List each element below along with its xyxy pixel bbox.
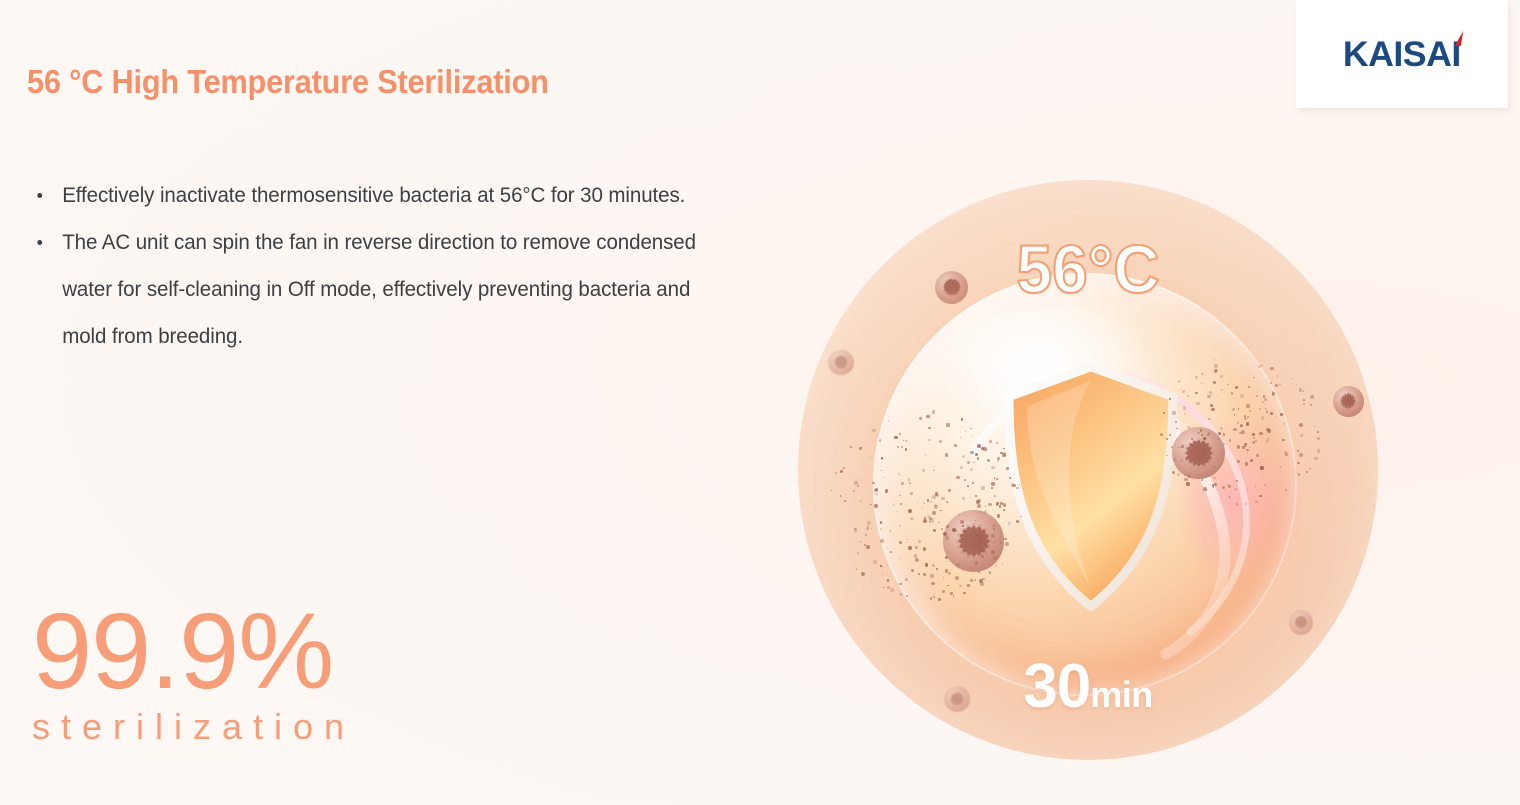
dust-speck	[1227, 384, 1228, 385]
dust-speck	[900, 503, 902, 505]
dust-speck	[929, 518, 933, 522]
dust-speck	[1000, 542, 1001, 543]
dust-speck	[1009, 477, 1011, 479]
dust-speck	[884, 477, 885, 478]
dust-speck	[871, 582, 872, 583]
dust-speck	[1006, 467, 1009, 470]
dust-speck	[915, 440, 916, 441]
dust-speck	[948, 572, 951, 575]
logo-red-accent-icon	[1454, 31, 1463, 46]
dust-speck	[930, 414, 931, 415]
dust-speck	[903, 440, 904, 441]
dust-speck	[975, 495, 978, 498]
dust-speck	[880, 565, 881, 566]
dust-speck	[918, 573, 920, 575]
dust-speck	[882, 573, 884, 575]
dust-speck	[1236, 480, 1238, 482]
dust-speck	[1259, 408, 1261, 410]
dust-speck	[919, 417, 922, 420]
dust-speck	[982, 578, 984, 580]
dust-speck	[881, 457, 883, 459]
dust-speck	[983, 510, 987, 514]
dust-speck	[1317, 437, 1320, 440]
dust-speck	[977, 444, 981, 448]
brand-logo-panel: KAISAI	[1296, 0, 1508, 108]
dust-speck	[985, 506, 986, 507]
dust-speck	[923, 502, 925, 504]
dust-speck	[991, 534, 995, 538]
dust-speck	[1314, 457, 1317, 460]
dust-speck	[1296, 384, 1297, 385]
dust-speck	[1258, 365, 1261, 368]
dust-speck	[1296, 428, 1297, 429]
dust-speck	[1213, 462, 1214, 463]
dust-speck	[1264, 398, 1267, 401]
dust-speck	[872, 482, 874, 484]
dust-speck	[883, 587, 885, 589]
dust-speck	[994, 495, 996, 497]
dust-speck	[888, 420, 889, 421]
dust-speck	[1169, 434, 1171, 436]
dust-speck	[989, 440, 992, 443]
dust-speck	[1181, 445, 1184, 448]
dust-speck	[874, 489, 878, 493]
dust-speck	[1197, 432, 1200, 435]
dust-speck	[953, 595, 954, 596]
dust-speck	[977, 504, 981, 508]
sterilization-illustration: 56°C 30min	[798, 180, 1378, 760]
dust-speck	[899, 525, 901, 527]
dust-speck	[1255, 440, 1257, 442]
dust-speck	[1207, 434, 1209, 436]
dust-cloud-right	[1158, 354, 1320, 505]
dust-speck	[977, 499, 980, 502]
dust-speck	[1270, 382, 1272, 384]
dust-speck	[932, 495, 936, 499]
dust-speck	[946, 423, 949, 426]
dust-speck	[1310, 395, 1313, 398]
dust-speck	[1229, 439, 1232, 442]
dust-speck	[880, 539, 884, 543]
dust-speck	[959, 514, 961, 516]
dust-speck	[1002, 563, 1003, 564]
dust-speck	[932, 564, 935, 567]
dust-speck	[861, 572, 865, 576]
dust-speck	[879, 439, 882, 442]
dust-speck	[1005, 542, 1009, 546]
dust-speck	[893, 504, 894, 505]
dust-speck	[1264, 484, 1266, 486]
dust-speck	[871, 528, 872, 529]
dust-speck	[967, 584, 970, 587]
dust-speck	[856, 568, 857, 569]
dust-speck	[991, 487, 993, 489]
dust-speck	[941, 528, 943, 530]
dust-speck	[1266, 440, 1268, 442]
dust-speck	[899, 433, 901, 435]
dust-speck	[905, 440, 907, 442]
dust-speck	[1270, 367, 1274, 371]
temperature-label: 56°C	[798, 230, 1378, 308]
dust-speck	[1016, 487, 1018, 489]
dust-speck	[1181, 460, 1182, 461]
dust-speck	[1317, 431, 1320, 434]
dust-speck	[1265, 408, 1267, 410]
dust-speck	[934, 505, 938, 509]
dust-speck	[956, 476, 959, 479]
dust-speck	[1203, 437, 1206, 440]
dust-speck	[1187, 426, 1190, 429]
dust-speck	[1250, 459, 1253, 462]
dust-speck	[1008, 524, 1009, 525]
dust-speck	[975, 453, 978, 456]
dust-speck	[1259, 462, 1260, 463]
dust-speck	[992, 524, 996, 528]
duration-unit: min	[1090, 674, 1153, 715]
dust-speck	[1217, 395, 1219, 397]
dust-speck	[1014, 474, 1015, 475]
dust-speck	[1195, 376, 1197, 378]
dust-speck	[946, 501, 948, 503]
dust-speck	[875, 493, 878, 496]
dust-speck	[936, 494, 939, 497]
dust-speck	[923, 547, 926, 550]
dust-speck	[962, 455, 965, 458]
dust-speck	[925, 454, 927, 456]
dust-speck	[993, 528, 995, 530]
dust-speck	[1163, 412, 1165, 414]
dust-speck	[1242, 446, 1245, 449]
dust-speck	[1201, 383, 1202, 384]
dust-speck	[978, 571, 980, 573]
dust-speck	[852, 475, 853, 476]
dust-speck	[1298, 473, 1301, 476]
dust-speck	[1177, 473, 1180, 476]
dust-speck	[940, 510, 941, 511]
dust-speck	[975, 561, 979, 565]
dust-speck	[996, 442, 998, 444]
dust-speck	[942, 590, 945, 593]
dust-speck	[1238, 408, 1240, 410]
dust-speck	[1285, 489, 1287, 491]
dust-speck	[860, 541, 862, 543]
dust-speck	[930, 574, 934, 578]
dust-speck	[948, 489, 951, 492]
dust-speck	[850, 446, 852, 448]
feature-bullet-list: Effectively inactivate thermosensitive b…	[24, 172, 744, 360]
dust-speck	[887, 547, 888, 548]
dust-speck	[1169, 398, 1170, 399]
dust-speck	[1246, 422, 1250, 426]
dust-speck	[1201, 434, 1203, 436]
dust-speck	[1160, 433, 1163, 436]
dust-speck	[955, 576, 959, 580]
dust-speck	[1000, 452, 1003, 455]
dust-speck	[954, 444, 958, 448]
dust-speck	[908, 478, 911, 481]
dust-speck	[994, 477, 996, 479]
dust-speck	[890, 551, 892, 553]
dust-speck	[922, 508, 923, 509]
dust-speck	[960, 466, 963, 469]
dust-speck	[1184, 474, 1186, 476]
dust-speck	[1282, 439, 1284, 441]
dust-speck	[1259, 495, 1262, 498]
dust-speck	[1261, 416, 1265, 420]
dust-speck	[870, 457, 871, 458]
dust-speck	[946, 525, 949, 528]
dust-speck	[1171, 446, 1173, 448]
dust-speck	[1003, 509, 1004, 510]
dust-speck	[899, 541, 902, 544]
dust-speck	[1214, 359, 1215, 360]
dust-speck	[872, 429, 876, 433]
dust-speck	[997, 514, 1000, 517]
dust-speck	[901, 482, 904, 485]
dust-speck	[1314, 426, 1316, 428]
dust-speck	[898, 473, 900, 475]
dust-speck	[909, 482, 911, 484]
dust-speck	[908, 509, 912, 513]
dust-speck	[967, 461, 970, 464]
dust-speck	[1262, 401, 1264, 403]
dust-speck	[1272, 392, 1276, 396]
dust-speck	[977, 457, 980, 460]
dust-speck	[1211, 408, 1215, 412]
dust-speck	[1233, 398, 1234, 399]
page-title: 56 °C High Temperature Sterilization	[27, 63, 549, 101]
dust-speck	[1195, 392, 1198, 395]
dust-speck	[938, 598, 940, 600]
dust-speck	[910, 492, 913, 495]
dust-speck	[1237, 422, 1239, 424]
dust-speck	[1178, 447, 1180, 449]
dust-speck	[1215, 369, 1218, 372]
dust-speck	[1003, 448, 1005, 450]
dust-speck	[980, 582, 984, 586]
dust-speck	[844, 500, 846, 502]
dust-speck	[880, 521, 883, 524]
dust-speck	[1241, 430, 1245, 434]
dust-speck	[1280, 413, 1283, 416]
dust-speck	[885, 489, 889, 493]
dust-speck	[960, 437, 961, 438]
dust-speck	[997, 460, 999, 462]
dust-speck	[970, 451, 973, 454]
dust-speck	[1184, 478, 1187, 481]
dust-speck	[1221, 389, 1223, 391]
dust-speck	[974, 579, 976, 581]
dust-speck	[1002, 454, 1006, 458]
dust-speck	[1247, 416, 1249, 418]
dust-speck	[1183, 406, 1187, 410]
dust-speck	[1213, 477, 1215, 479]
dust-speck	[1236, 503, 1238, 505]
dust-speck	[1237, 460, 1240, 463]
dust-speck	[1244, 418, 1246, 420]
dust-speck	[861, 479, 863, 481]
dust-speck	[1191, 468, 1192, 469]
slide-canvas: KAISAI 56 °C High Temperature Sterilizat…	[0, 0, 1520, 805]
dust-speck	[1247, 452, 1249, 454]
dust-speck	[1173, 458, 1176, 461]
dust-speck	[979, 548, 983, 552]
dust-speck	[1208, 418, 1211, 421]
dust-speck	[1218, 432, 1221, 435]
dust-speck	[923, 573, 926, 576]
dust-speck	[1246, 404, 1249, 407]
dust-speck	[908, 546, 912, 550]
dust-speck	[1180, 388, 1181, 389]
dust-speck	[1270, 412, 1273, 415]
dust-speck	[981, 486, 985, 490]
dust-speck	[995, 483, 996, 484]
dust-speck	[933, 470, 934, 471]
dust-speck	[867, 521, 871, 525]
dust-speck	[1237, 445, 1240, 448]
dust-speck	[1166, 455, 1168, 457]
dust-speck	[866, 527, 869, 530]
dust-speck	[928, 439, 930, 441]
dust-speck	[865, 534, 867, 536]
dust-speck	[972, 435, 973, 436]
dust-speck	[960, 520, 964, 524]
dust-speck	[1004, 538, 1007, 541]
dust-speck	[941, 497, 944, 500]
dust-speck	[1214, 483, 1217, 486]
dust-speck	[1178, 381, 1179, 382]
dust-speck	[1209, 430, 1210, 431]
dust-speck	[887, 579, 889, 581]
dust-speck	[964, 528, 968, 532]
dust-speck	[956, 563, 960, 567]
dust-speck	[1019, 484, 1020, 485]
dust-speck	[1201, 479, 1202, 480]
dust-speck	[1275, 416, 1276, 417]
dust-speck	[1299, 453, 1303, 457]
dust-speck	[918, 540, 921, 543]
dust-speck	[922, 469, 924, 471]
dust-speck	[905, 448, 907, 450]
dust-speck	[910, 517, 914, 521]
dust-speck	[991, 550, 995, 554]
dust-speck	[965, 431, 966, 432]
dust-speck	[996, 478, 998, 480]
dust-speck	[961, 418, 963, 420]
dust-speck	[932, 410, 936, 414]
dust-speck	[906, 595, 908, 597]
dust-speck	[1299, 423, 1303, 427]
dust-speck	[1232, 408, 1235, 411]
dust-speck	[967, 485, 969, 487]
dust-speck	[1222, 486, 1225, 489]
kaisai-logo: KAISAI	[1344, 37, 1460, 72]
dust-speck	[999, 505, 1001, 507]
dust-speck	[831, 490, 832, 491]
dust-speck	[874, 504, 878, 508]
dust-speck	[1171, 468, 1172, 469]
dust-speck	[1233, 428, 1237, 432]
dust-speck	[1277, 375, 1279, 377]
dust-speck	[1213, 381, 1216, 384]
dust-speck	[917, 503, 919, 505]
duration-value: 30	[1023, 652, 1090, 721]
dust-speck	[962, 497, 966, 501]
duration-label: 30min	[798, 651, 1378, 722]
dust-speck	[1214, 466, 1217, 469]
dust-speck	[1182, 390, 1185, 393]
dust-speck	[943, 577, 944, 578]
sterilization-stat: 99.9% sterilization	[32, 600, 355, 746]
dust-speck	[987, 459, 990, 462]
dust-speck	[857, 552, 859, 554]
dust-speck	[1218, 439, 1219, 440]
dust-speck	[989, 572, 991, 574]
dust-speck	[900, 558, 901, 559]
dust-speck	[1303, 403, 1305, 405]
dust-speck	[938, 522, 939, 523]
dust-speck	[901, 446, 903, 448]
dust-speck	[1266, 411, 1268, 413]
dust-speck	[931, 582, 935, 586]
dust-speck	[1208, 484, 1209, 485]
list-item: Effectively inactivate thermosensitive b…	[24, 172, 712, 219]
dust-speck	[1253, 437, 1255, 439]
dust-speck	[896, 511, 897, 512]
dust-speck	[1253, 377, 1255, 379]
dust-speck	[1166, 438, 1167, 439]
dust-speck	[1207, 395, 1210, 398]
dust-speck	[880, 528, 882, 530]
dust-speck	[933, 596, 935, 598]
dust-speck	[1303, 390, 1305, 392]
dust-speck	[1199, 460, 1201, 462]
dust-speck	[946, 561, 948, 563]
dust-speck	[1231, 392, 1233, 394]
dust-speck	[1235, 386, 1238, 389]
dust-speck	[881, 470, 882, 471]
dust-speck	[947, 585, 949, 587]
dust-speck	[1249, 410, 1251, 412]
dust-speck	[973, 462, 974, 463]
dust-speck	[914, 554, 918, 558]
dust-speck	[988, 503, 992, 507]
dust-speck	[1210, 404, 1213, 407]
dust-speck	[1172, 471, 1175, 474]
dust-speck	[899, 495, 901, 497]
dust-speck	[1256, 395, 1258, 397]
dust-speck	[1196, 402, 1199, 405]
dust-speck	[840, 470, 843, 473]
dust-speck	[1211, 394, 1212, 395]
dust-speck	[1172, 411, 1175, 414]
dust-speck	[843, 467, 845, 469]
dust-speck	[1228, 485, 1231, 488]
dust-speck	[853, 490, 855, 492]
dust-speck	[991, 466, 995, 470]
dust-speck	[1198, 469, 1199, 470]
dust-speck	[962, 568, 963, 569]
dust-speck	[860, 500, 862, 502]
dust-speck	[890, 588, 894, 592]
dust-speck	[1212, 466, 1213, 467]
dust-speck	[1255, 485, 1257, 487]
dust-speck	[1297, 450, 1299, 452]
dust-speck	[1214, 364, 1218, 368]
dust-speck	[1245, 462, 1248, 465]
dust-speck	[995, 565, 997, 567]
dust-speck	[1297, 462, 1300, 465]
